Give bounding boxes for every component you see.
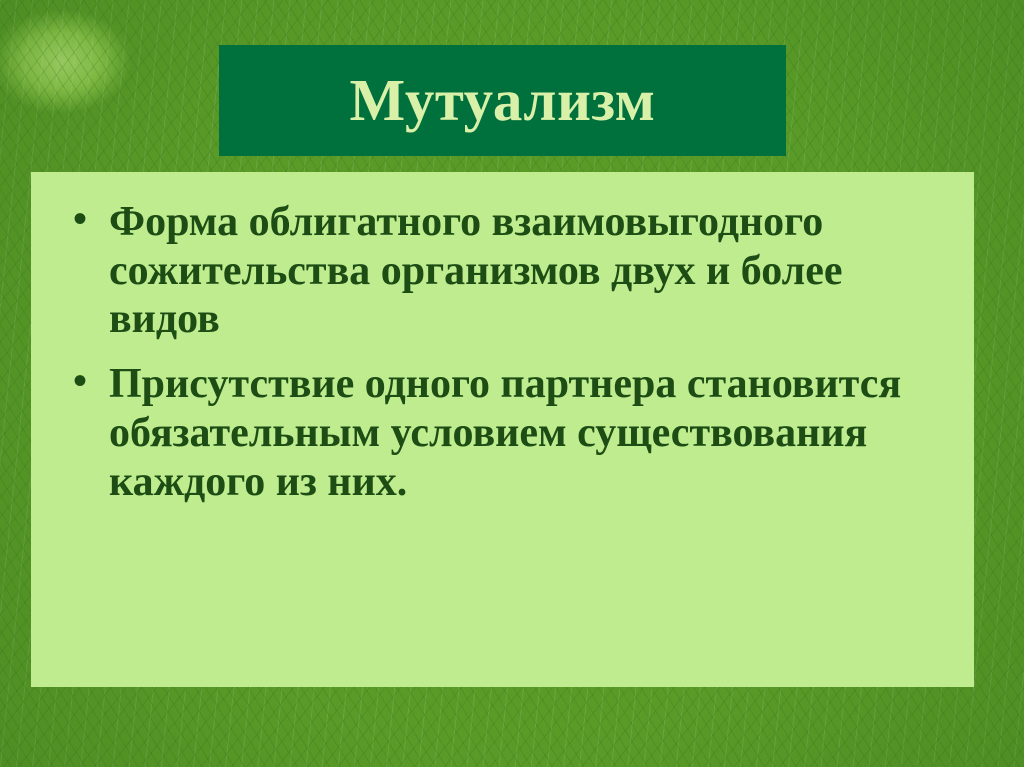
page-title: Мутуализм xyxy=(349,71,655,130)
slide: Мутуализм Форма облигатного взаимовыгодн… xyxy=(0,0,1024,767)
list-item: Форма облигатного взаимовыгодного сожите… xyxy=(69,198,944,344)
list-item-text: Форма облигатного взаимовыгодного сожите… xyxy=(109,198,944,344)
list-item: Присутствие одного партнера становится о… xyxy=(69,360,944,506)
bullet-list: Форма облигатного взаимовыгодного сожите… xyxy=(31,172,974,506)
list-item-text: Присутствие одного партнера становится о… xyxy=(109,360,944,506)
title-band: Мутуализм xyxy=(219,45,786,156)
content-panel: Форма облигатного взаимовыгодного сожите… xyxy=(31,172,974,687)
